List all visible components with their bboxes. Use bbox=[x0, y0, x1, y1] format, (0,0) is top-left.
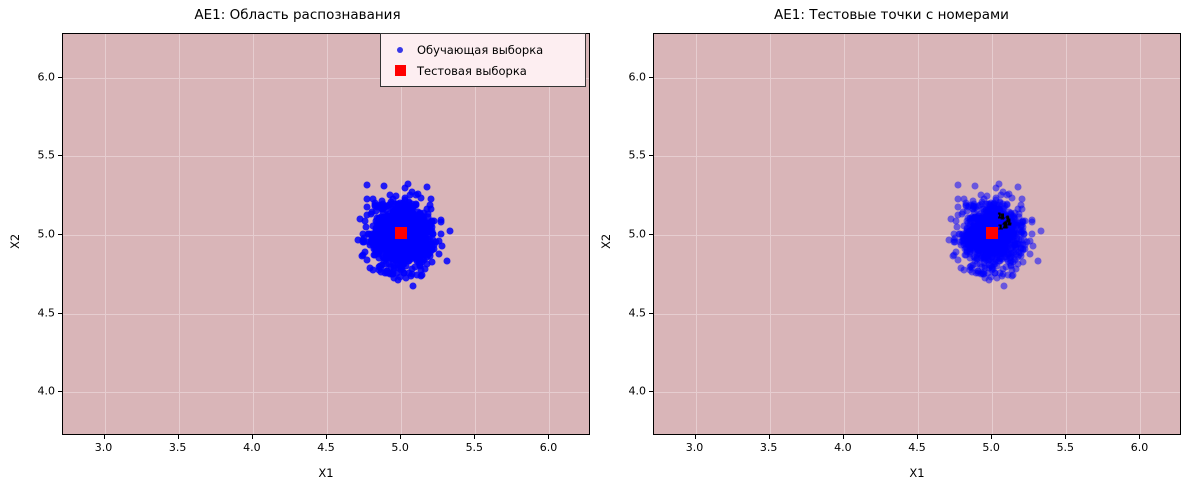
scatter-point-train bbox=[993, 194, 1000, 201]
scatter-point-train bbox=[957, 265, 964, 272]
scatter-point-train bbox=[373, 215, 380, 222]
scatter-point-train bbox=[954, 182, 961, 189]
scatter-point-train bbox=[955, 256, 962, 263]
scatter-point-train bbox=[437, 230, 444, 237]
x-tick-label: 3.0 bbox=[95, 441, 113, 454]
x-tick-mark bbox=[1065, 435, 1066, 439]
scatter-point-train bbox=[407, 241, 414, 248]
gridline-vertical bbox=[327, 34, 328, 434]
scatter-point-train bbox=[418, 272, 425, 279]
scatter-point-train bbox=[998, 231, 1005, 238]
scatter-point-train bbox=[1014, 254, 1021, 261]
x-tick-mark bbox=[917, 435, 918, 439]
panel-right-ylabel: X2 bbox=[599, 219, 613, 249]
scatter-point-train bbox=[423, 254, 430, 261]
gridline-vertical bbox=[1066, 34, 1067, 434]
scatter-point-train bbox=[413, 201, 420, 208]
x-tick-mark bbox=[400, 435, 401, 439]
legend-item-test: Тестовая выборка bbox=[387, 60, 577, 81]
y-tick-label: 6.0 bbox=[22, 70, 55, 83]
scatter-point-train bbox=[359, 236, 366, 243]
legend: Обучающая выборка Тестовая выборка bbox=[380, 33, 586, 87]
scatter-point-train bbox=[990, 260, 997, 267]
scatter-point-train bbox=[366, 265, 373, 272]
scatter-point-train bbox=[970, 253, 977, 260]
scatter-point-train bbox=[1015, 206, 1022, 213]
y-tick-label: 4.0 bbox=[613, 385, 646, 398]
matplotlib-figure: AE1: Область распознавания X2 X1 3.03.54… bbox=[0, 0, 1189, 490]
gridline-horizontal bbox=[654, 392, 1180, 393]
y-tick-label: 5.0 bbox=[22, 228, 55, 241]
gridline-vertical bbox=[696, 34, 697, 434]
gridline-horizontal bbox=[63, 156, 589, 157]
scatter-point-train bbox=[446, 227, 453, 234]
scatter-point-train bbox=[995, 180, 1002, 187]
scatter-point-train bbox=[1028, 218, 1035, 225]
x-tick-label: 6.0 bbox=[540, 441, 558, 454]
x-tick-mark bbox=[326, 435, 327, 439]
scatter-point-train bbox=[386, 221, 393, 228]
gridline-horizontal bbox=[63, 314, 589, 315]
scatter-point-train bbox=[399, 260, 406, 267]
scatter-point-train bbox=[376, 246, 383, 253]
y-tick-mark bbox=[58, 391, 62, 392]
scatter-point-train bbox=[388, 237, 395, 244]
scatter-point-train bbox=[970, 209, 977, 216]
scatter-point-train bbox=[410, 283, 417, 290]
x-tick-mark bbox=[104, 435, 105, 439]
scatter-point-train bbox=[408, 273, 415, 280]
scatter-point-train bbox=[1018, 195, 1025, 202]
x-tick-label: 4.5 bbox=[908, 441, 926, 454]
scatter-point-train bbox=[376, 235, 383, 242]
legend-label-train: Обучающая выборка bbox=[413, 43, 543, 57]
gridline-vertical bbox=[475, 34, 476, 434]
x-tick-label: 5.5 bbox=[466, 441, 484, 454]
scatter-point-train bbox=[401, 214, 408, 221]
gridline-horizontal bbox=[654, 314, 1180, 315]
gridline-horizontal bbox=[654, 78, 1180, 79]
scatter-point-train bbox=[967, 246, 974, 253]
scatter-point-train bbox=[982, 215, 989, 222]
y-tick-mark bbox=[649, 77, 653, 78]
scatter-point-train bbox=[412, 263, 419, 270]
scatter-point-train bbox=[1004, 201, 1011, 208]
scatter-point-train bbox=[983, 252, 990, 259]
y-tick-mark bbox=[649, 313, 653, 314]
scatter-point-train bbox=[1020, 259, 1027, 266]
scatter-point-train bbox=[427, 195, 434, 202]
gridline-vertical bbox=[770, 34, 771, 434]
x-tick-label: 5.0 bbox=[391, 441, 409, 454]
scatter-point-train bbox=[950, 236, 957, 243]
y-tick-mark bbox=[58, 234, 62, 235]
scatter-point-train bbox=[402, 194, 409, 201]
scatter-point-train bbox=[1007, 234, 1014, 241]
scatter-point-train bbox=[376, 266, 383, 273]
scatter-point-train bbox=[379, 253, 386, 260]
scatter-point-train bbox=[424, 206, 431, 213]
scatter-point-train bbox=[1016, 220, 1023, 227]
gridline-vertical bbox=[179, 34, 180, 434]
y-tick-mark bbox=[58, 155, 62, 156]
x-tick-mark bbox=[769, 435, 770, 439]
y-tick-mark bbox=[58, 313, 62, 314]
x-tick-mark bbox=[178, 435, 179, 439]
scatter-point-train bbox=[391, 215, 398, 222]
x-tick-label: 4.5 bbox=[317, 441, 335, 454]
scatter-point-train bbox=[948, 215, 955, 222]
gridline-horizontal bbox=[63, 235, 589, 236]
x-tick-label: 4.0 bbox=[834, 441, 852, 454]
scatter-point-train bbox=[425, 220, 432, 227]
scatter-point-train bbox=[961, 252, 968, 259]
scatter-point-train bbox=[363, 182, 370, 189]
scatter-point-train bbox=[1037, 227, 1044, 234]
panel-right: AE1: Тестовые точки с номерами 111111111… bbox=[594, 0, 1189, 490]
gridline-horizontal bbox=[654, 235, 1180, 236]
scatter-point-train bbox=[1030, 243, 1037, 250]
panel-left-axes bbox=[62, 33, 590, 435]
scatter-point-train bbox=[428, 241, 435, 248]
x-tick-mark bbox=[548, 435, 549, 439]
scatter-point-train bbox=[404, 180, 411, 187]
y-tick-label: 5.5 bbox=[613, 149, 646, 162]
x-tick-label: 4.0 bbox=[243, 441, 261, 454]
scatter-point-train bbox=[398, 245, 405, 252]
scatter-point-train bbox=[1001, 283, 1008, 290]
y-tick-mark bbox=[58, 77, 62, 78]
scatter-point-train bbox=[967, 235, 974, 242]
y-tick-label: 5.5 bbox=[22, 149, 55, 162]
x-tick-mark bbox=[474, 435, 475, 439]
panel-left-title: AE1: Область распознавания bbox=[0, 7, 595, 23]
scatter-point-test bbox=[986, 227, 998, 239]
annotation-number: 1 bbox=[997, 214, 1001, 219]
scatter-point-train bbox=[357, 215, 364, 222]
gridline-vertical bbox=[844, 34, 845, 434]
x-tick-label: 3.0 bbox=[686, 441, 704, 454]
x-tick-mark bbox=[252, 435, 253, 439]
y-tick-mark bbox=[649, 234, 653, 235]
annotation-number: 1 bbox=[1007, 222, 1011, 227]
gridline-vertical bbox=[549, 34, 550, 434]
scatter-point-train bbox=[389, 206, 396, 213]
gridline-vertical bbox=[1140, 34, 1141, 434]
scatter-point-train bbox=[389, 196, 396, 203]
scatter-point-train bbox=[978, 269, 985, 276]
scatter-point-train bbox=[437, 218, 444, 225]
annotation-number: 1 bbox=[1003, 225, 1007, 230]
scatter-point-train bbox=[1034, 258, 1041, 265]
scatter-point-train bbox=[989, 245, 996, 252]
x-tick-mark bbox=[843, 435, 844, 439]
scatter-point-train bbox=[409, 211, 416, 218]
panel-left: AE1: Область распознавания X2 X1 3.03.54… bbox=[0, 0, 595, 490]
scatter-point-train bbox=[1014, 184, 1021, 191]
y-tick-label: 4.5 bbox=[22, 306, 55, 319]
panel-left-ylabel: X2 bbox=[8, 219, 22, 249]
y-tick-label: 6.0 bbox=[613, 70, 646, 83]
x-tick-label: 5.0 bbox=[982, 441, 1000, 454]
scatter-point-train bbox=[381, 182, 388, 189]
scatter-point-train bbox=[974, 261, 981, 268]
x-tick-label: 5.5 bbox=[1057, 441, 1075, 454]
scatter-point-train bbox=[992, 269, 999, 276]
x-tick-label: 3.5 bbox=[169, 441, 187, 454]
scatter-point-train bbox=[980, 206, 987, 213]
scatter-point-train bbox=[439, 243, 446, 250]
x-tick-mark bbox=[991, 435, 992, 439]
scatter-point-train bbox=[980, 196, 987, 203]
scatter-point-train bbox=[379, 209, 386, 216]
scatter-point-train bbox=[1012, 265, 1019, 272]
legend-circle-icon bbox=[387, 47, 413, 53]
y-tick-label: 4.5 bbox=[613, 306, 646, 319]
panel-right-axes: 11111111111111111111111111 bbox=[653, 33, 1181, 435]
scatter-point-train bbox=[362, 248, 369, 255]
legend-item-train: Обучающая выборка bbox=[387, 39, 577, 60]
annotation-number: 1 bbox=[998, 225, 1002, 230]
y-tick-mark bbox=[649, 155, 653, 156]
gridline-horizontal bbox=[63, 392, 589, 393]
scatter-point-train bbox=[392, 252, 399, 259]
gridline-vertical bbox=[105, 34, 106, 434]
scatter-point-train bbox=[443, 258, 450, 265]
scatter-point-train bbox=[383, 261, 390, 268]
scatter-point-train bbox=[967, 266, 974, 273]
gridline-vertical bbox=[253, 34, 254, 434]
scatter-point-train bbox=[421, 265, 428, 272]
x-tick-mark bbox=[695, 435, 696, 439]
scatter-point-train bbox=[1009, 272, 1016, 279]
scatter-point-train bbox=[972, 182, 979, 189]
scatter-point-train bbox=[416, 234, 423, 241]
scatter-point-train bbox=[977, 221, 984, 228]
scatter-point-train bbox=[964, 215, 971, 222]
x-tick-mark bbox=[1139, 435, 1140, 439]
scatter-point-train bbox=[953, 248, 960, 255]
scatter-point-train bbox=[1003, 263, 1010, 270]
scatter-point-train bbox=[1019, 241, 1026, 248]
scatter-point-train bbox=[423, 184, 430, 191]
panel-right-title: AE1: Тестовые точки с номерами bbox=[594, 7, 1189, 23]
scatter-point-train bbox=[1028, 230, 1035, 237]
scatter-point-train bbox=[429, 259, 436, 266]
scatter-point-train bbox=[387, 269, 394, 276]
legend-square-icon bbox=[387, 65, 413, 76]
scatter-point-train bbox=[364, 256, 371, 263]
scatter-point-train bbox=[998, 241, 1005, 248]
y-tick-label: 5.0 bbox=[613, 228, 646, 241]
panel-right-xlabel: X1 bbox=[653, 466, 1181, 480]
scatter-point-train bbox=[370, 252, 377, 259]
panel-left-xlabel: X1 bbox=[62, 466, 590, 480]
gridline-horizontal bbox=[654, 156, 1180, 157]
scatter-point-train bbox=[979, 237, 986, 244]
y-tick-mark bbox=[649, 391, 653, 392]
scatter-point-train bbox=[401, 269, 408, 276]
scatter-point-train bbox=[999, 273, 1006, 280]
gridline-vertical bbox=[918, 34, 919, 434]
x-tick-label: 3.5 bbox=[760, 441, 778, 454]
scatter-point-train bbox=[407, 231, 414, 238]
legend-label-test: Тестовая выборка bbox=[413, 64, 527, 78]
scatter-point-test bbox=[395, 227, 407, 239]
x-tick-label: 6.0 bbox=[1131, 441, 1149, 454]
y-tick-label: 4.0 bbox=[22, 385, 55, 398]
